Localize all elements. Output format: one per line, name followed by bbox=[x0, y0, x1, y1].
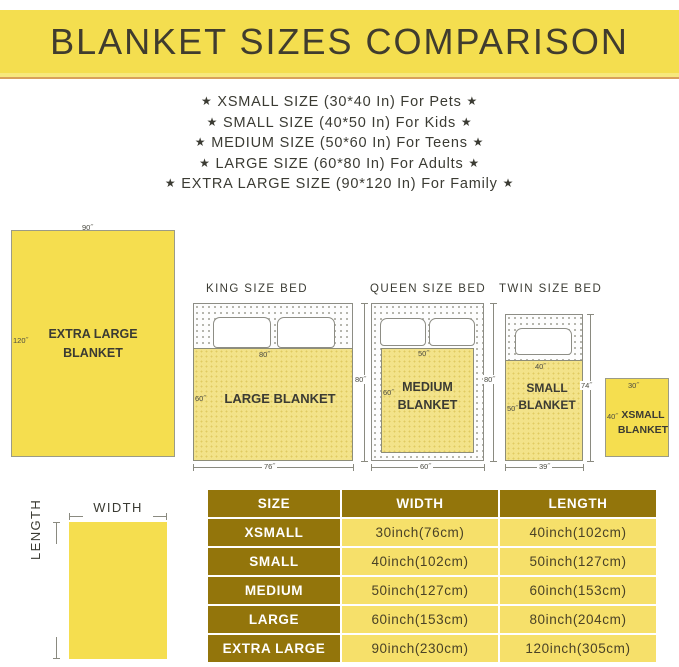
cell-length: 60inch(153cm) bbox=[500, 577, 656, 604]
bullet-text: LARGE SIZE (60*80 In) For Adults bbox=[215, 156, 463, 172]
queen-name-line2: BLANKET bbox=[381, 396, 474, 414]
length-dim-line-top bbox=[56, 522, 57, 544]
table-row: LARGE 60inch(153cm) 80inch(204cm) bbox=[208, 606, 656, 633]
king-height-cap-top bbox=[361, 303, 368, 304]
page-title: BLANKET SIZES COMPARISON bbox=[0, 10, 679, 73]
cell-length: 40inch(102cm) bbox=[500, 519, 656, 546]
cell-size: XSMALL bbox=[208, 519, 340, 546]
twin-width-cap-left bbox=[505, 464, 506, 471]
twin-bed-title: TWIN SIZE BED bbox=[499, 283, 602, 295]
cell-size: MEDIUM bbox=[208, 577, 340, 604]
queen-pillow-right bbox=[429, 318, 475, 346]
star-icon-right: ★ bbox=[503, 176, 515, 190]
queen-name-line1: MEDIUM bbox=[381, 378, 474, 396]
king-blanket-width-label: 80˝ bbox=[259, 350, 270, 359]
cell-width: 50inch(127cm) bbox=[342, 577, 498, 604]
length-label: LENGTH bbox=[28, 499, 43, 560]
twin-width-cap-right bbox=[583, 464, 584, 471]
star-icon-left: ★ bbox=[199, 156, 211, 170]
star-icon-left: ★ bbox=[207, 115, 219, 129]
star-icon-right: ★ bbox=[461, 115, 473, 129]
xsmall-name-line2: BLANKET bbox=[617, 423, 669, 438]
xsmall-name-line1: XSMALL bbox=[617, 408, 669, 423]
star-icon-right: ★ bbox=[468, 156, 480, 170]
bullet-text: EXTRA LARGE SIZE (90*120 In) For Family bbox=[181, 176, 497, 192]
queen-bed-width-label: 60˝ bbox=[418, 462, 433, 471]
table-header-width: WIDTH bbox=[342, 490, 498, 517]
king-blanket-name: LARGE BLANKET bbox=[207, 391, 353, 406]
queen-blanket-name: MEDIUM BLANKET bbox=[381, 378, 474, 414]
extra-large-width-label: 90˝ bbox=[82, 223, 93, 232]
bullet-item-medium: ★ MEDIUM SIZE (50*60 In) For Teens ★ bbox=[0, 133, 679, 154]
king-width-cap-right bbox=[353, 464, 354, 471]
queen-bed-height-label: 80˝ bbox=[483, 375, 496, 384]
xsmall-width-label: 30˝ bbox=[628, 381, 639, 390]
extra-large-name-line2: BLANKET bbox=[11, 344, 175, 363]
twin-name-line2: BLANKET bbox=[511, 397, 583, 414]
extra-large-name-line1: EXTRA LARGE bbox=[11, 325, 175, 344]
table-header-size: SIZE bbox=[208, 490, 340, 517]
queen-blanket-width-label: 50˝ bbox=[418, 349, 429, 358]
table-row: EXTRA LARGE 90inch(230cm) 120inch(305cm) bbox=[208, 635, 656, 662]
king-width-cap-left bbox=[193, 464, 194, 471]
width-dim-line-left bbox=[69, 516, 83, 517]
cell-size: EXTRA LARGE bbox=[208, 635, 340, 662]
king-bed-title: KING SIZE BED bbox=[206, 283, 308, 295]
bullet-item-large: ★ LARGE SIZE (60*80 In) For Adults ★ bbox=[0, 154, 679, 175]
cell-length: 120inch(305cm) bbox=[500, 635, 656, 662]
queen-pillow-left bbox=[380, 318, 426, 346]
queen-width-cap-right bbox=[484, 464, 485, 471]
cell-width: 60inch(153cm) bbox=[342, 606, 498, 633]
width-cap-left bbox=[69, 513, 70, 520]
extra-large-blanket-name: EXTRA LARGE BLANKET bbox=[11, 325, 175, 363]
cell-size: SMALL bbox=[208, 548, 340, 575]
king-height-cap-bottom bbox=[361, 461, 368, 462]
twin-blanket-width-label: 40˝ bbox=[535, 362, 546, 371]
star-icon-right: ★ bbox=[466, 94, 478, 108]
bullet-item-extra-large: ★ EXTRA LARGE SIZE (90*120 In) For Famil… bbox=[0, 174, 679, 195]
king-blanket-height-label: 60˝ bbox=[195, 394, 206, 403]
table-header-row: SIZE WIDTH LENGTH bbox=[208, 490, 656, 517]
length-cap-bottom bbox=[53, 658, 60, 659]
infographic-page: BLANKET SIZES COMPARISON ★ XSMALL SIZE (… bbox=[0, 0, 679, 667]
length-cap-top bbox=[53, 522, 60, 523]
width-cap-right bbox=[166, 513, 167, 520]
bullet-text: SMALL SIZE (40*50 In) For Kids bbox=[223, 115, 456, 131]
king-pillow-right bbox=[277, 317, 335, 348]
width-length-blanket-shape bbox=[69, 522, 167, 659]
cell-width: 90inch(230cm) bbox=[342, 635, 498, 662]
xsmall-blanket-name: XSMALL BLANKET bbox=[617, 408, 669, 438]
twin-name-line1: SMALL bbox=[511, 380, 583, 397]
queen-height-cap-bottom bbox=[490, 461, 497, 462]
bullet-text: XSMALL SIZE (30*40 In) For Pets bbox=[217, 94, 461, 110]
queen-width-cap-left bbox=[371, 464, 372, 471]
width-label: WIDTH bbox=[69, 500, 167, 515]
bullet-item-xsmall: ★ XSMALL SIZE (30*40 In) For Pets ★ bbox=[0, 92, 679, 113]
table-row: SMALL 40inch(102cm) 50inch(127cm) bbox=[208, 548, 656, 575]
title-banner-rule bbox=[0, 77, 679, 79]
bullet-item-small: ★ SMALL SIZE (40*50 In) For Kids ★ bbox=[0, 113, 679, 134]
twin-height-cap-bottom bbox=[587, 461, 594, 462]
twin-height-cap-top bbox=[587, 314, 594, 315]
star-icon-left: ★ bbox=[201, 94, 213, 108]
width-dim-line-right bbox=[153, 516, 167, 517]
cell-size: LARGE bbox=[208, 606, 340, 633]
table-row: XSMALL 30inch(76cm) 40inch(102cm) bbox=[208, 519, 656, 546]
size-bullet-list: ★ XSMALL SIZE (30*40 In) For Pets ★ ★ SM… bbox=[0, 92, 679, 195]
twin-blanket-name: SMALL BLANKET bbox=[511, 380, 583, 414]
table-row: MEDIUM 50inch(127cm) 60inch(153cm) bbox=[208, 577, 656, 604]
twin-pillow bbox=[515, 328, 572, 355]
star-icon-left: ★ bbox=[165, 176, 177, 190]
queen-bed-title: QUEEN SIZE BED bbox=[370, 283, 486, 295]
length-dim-line-bottom bbox=[56, 637, 57, 659]
king-bed-height-label: 80˝ bbox=[354, 375, 367, 384]
star-icon-right: ★ bbox=[473, 135, 485, 149]
twin-bed-width-label: 39˝ bbox=[537, 462, 552, 471]
king-bed-width-label: 76˝ bbox=[262, 462, 277, 471]
size-comparison-table: SIZE WIDTH LENGTH XSMALL 30inch(76cm) 40… bbox=[206, 488, 658, 664]
bullet-text: MEDIUM SIZE (50*60 In) For Teens bbox=[211, 135, 468, 151]
queen-height-cap-top bbox=[490, 303, 497, 304]
king-pillow-left bbox=[213, 317, 271, 348]
table-header-length: LENGTH bbox=[500, 490, 656, 517]
cell-length: 50inch(127cm) bbox=[500, 548, 656, 575]
twin-bed-height-label: 74˝ bbox=[580, 381, 593, 390]
cell-length: 80inch(204cm) bbox=[500, 606, 656, 633]
cell-width: 40inch(102cm) bbox=[342, 548, 498, 575]
star-icon-left: ★ bbox=[195, 135, 207, 149]
cell-width: 30inch(76cm) bbox=[342, 519, 498, 546]
